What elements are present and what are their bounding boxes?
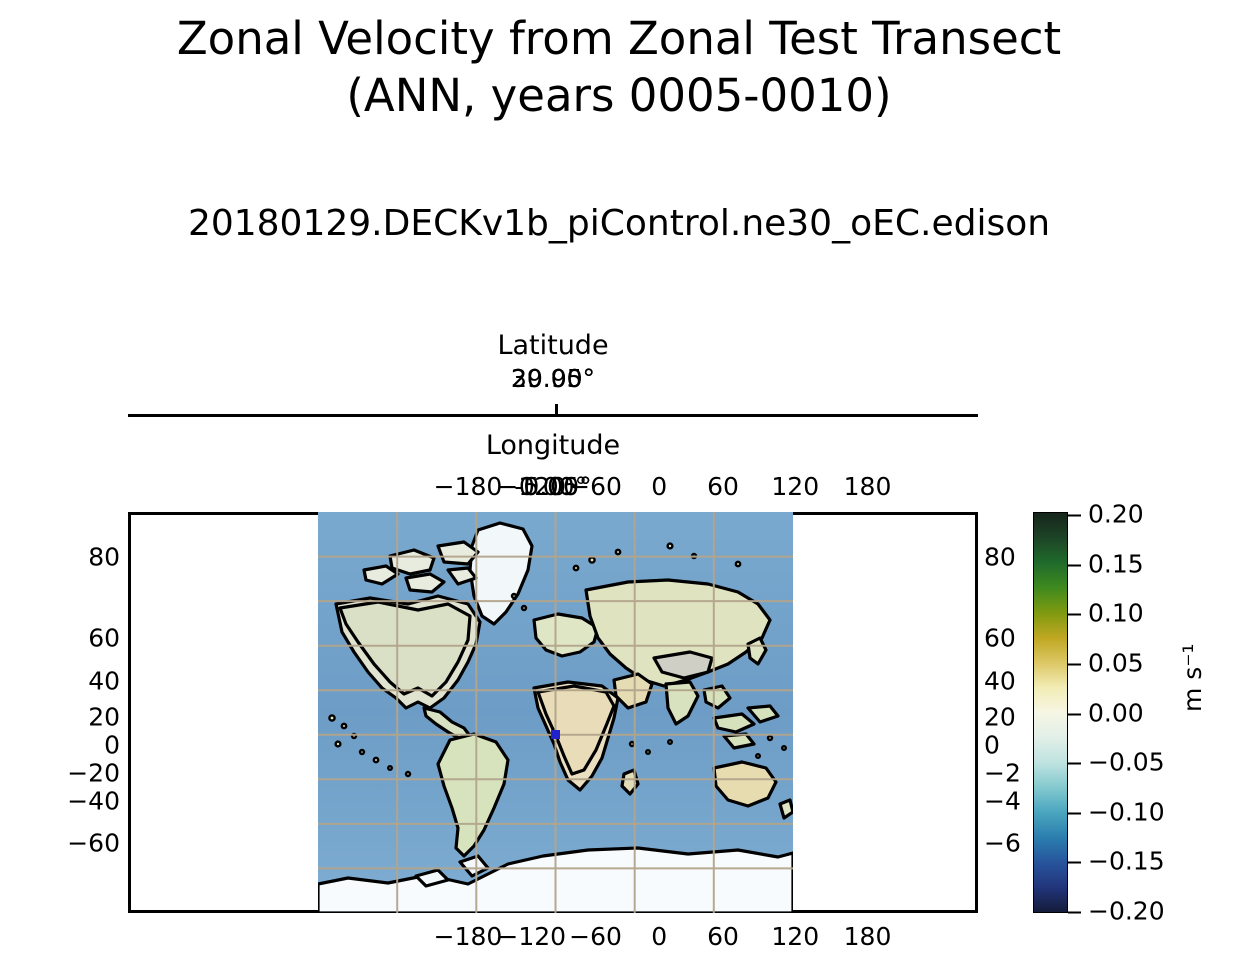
cbar-tick-1: 0.15	[1068, 549, 1144, 578]
figure-subtitle: 20180129.DECKv1b_piControl.ne30_oEC.edis…	[0, 202, 1238, 246]
longitude-bottom-tick-labels: −180 −120 −60 0 60 120 180	[128, 922, 978, 956]
y-right-tick-1: 60	[984, 623, 1016, 652]
lon-bottom-tick-1: −120	[497, 922, 566, 951]
colorbar-tick-labels: 0.20 0.15 0.10 0.05 0.00 −0.05 −0.10 −0.…	[1068, 512, 1218, 913]
cbar-tick-0: 0.20	[1068, 500, 1144, 529]
latitude-axis-spine	[128, 414, 978, 417]
y-left-tick-0: 80	[88, 542, 120, 571]
cbar-tick-5: −0.05	[1068, 748, 1165, 777]
y-left-tick-4: 0	[104, 730, 120, 759]
y-left-tick-5: −20	[67, 759, 120, 788]
cbar-tick-3: 0.05	[1068, 648, 1144, 677]
cbar-tick-6: −0.10	[1068, 797, 1165, 826]
lon-bottom-tick-4: 60	[707, 922, 739, 951]
colorbar[interactable]	[1033, 512, 1068, 913]
cbar-tick-4: 0.00	[1068, 698, 1144, 727]
lon-bottom-tick-6: 180	[844, 922, 892, 951]
lon-bottom-tick-0: −180	[434, 922, 503, 951]
lon-top-tick-6: 180	[844, 472, 892, 501]
longitude-axis-label: Longitude	[128, 430, 978, 461]
longitude-top-tick-labels: −180 −120 −60 0 60 120 180 -5.00° -0.05°…	[128, 472, 978, 502]
figure-title-line-1: Zonal Velocity from Zonal Test Transect	[0, 10, 1238, 67]
y-right-tick-4: 0	[984, 730, 1000, 759]
y-right-tick-3: 20	[984, 702, 1016, 731]
figure-title: Zonal Velocity from Zonal Test Transect …	[0, 10, 1238, 124]
cbar-tick-8: −0.20	[1068, 896, 1165, 925]
y-left-tick-1: 60	[88, 623, 120, 652]
colorbar-unit-label: m s⁻¹	[1178, 643, 1207, 712]
longitude-tick-label-3: 0.00°	[519, 472, 587, 501]
y-right-tick-5: −2	[984, 759, 1021, 788]
lon-top-tick-0: −180	[434, 472, 503, 501]
y-right-tick-0: 80	[984, 542, 1016, 571]
y-left-tick-7: −60	[67, 828, 120, 857]
latitude-tick-label-3: 30.00°	[511, 364, 595, 393]
lon-bottom-tick-2: −60	[569, 922, 622, 951]
y-left-tick-6: −40	[67, 787, 120, 816]
lon-top-tick-4: 60	[707, 472, 739, 501]
figure-title-line-2: (ANN, years 0005-0010)	[0, 67, 1238, 124]
y-left-tick-2: 40	[88, 667, 120, 696]
latitude-tick-labels-left: 80 60 40 20 0 −20 −40 −60	[0, 512, 120, 913]
y-right-tick-7: −6	[984, 828, 1021, 857]
cbar-tick-7: −0.15	[1068, 847, 1165, 876]
latitude-tick-labels-overlapping: 20.00° 29.95° 30.00°	[128, 364, 978, 392]
lon-top-tick-3: 0	[651, 472, 667, 501]
y-right-tick-2: 40	[984, 667, 1016, 696]
world-map-image	[318, 512, 793, 913]
y-left-tick-3: 20	[88, 702, 120, 731]
y-right-tick-6: −4	[984, 787, 1021, 816]
lon-top-tick-5: 120	[771, 472, 819, 501]
lon-bottom-tick-3: 0	[651, 922, 667, 951]
cbar-tick-2: 0.10	[1068, 599, 1144, 628]
latitude-axis-label: Latitude	[128, 330, 978, 361]
lon-bottom-tick-5: 120	[771, 922, 819, 951]
transect-location-marker	[551, 730, 560, 739]
latitude-axis-tick-mark	[555, 404, 558, 415]
